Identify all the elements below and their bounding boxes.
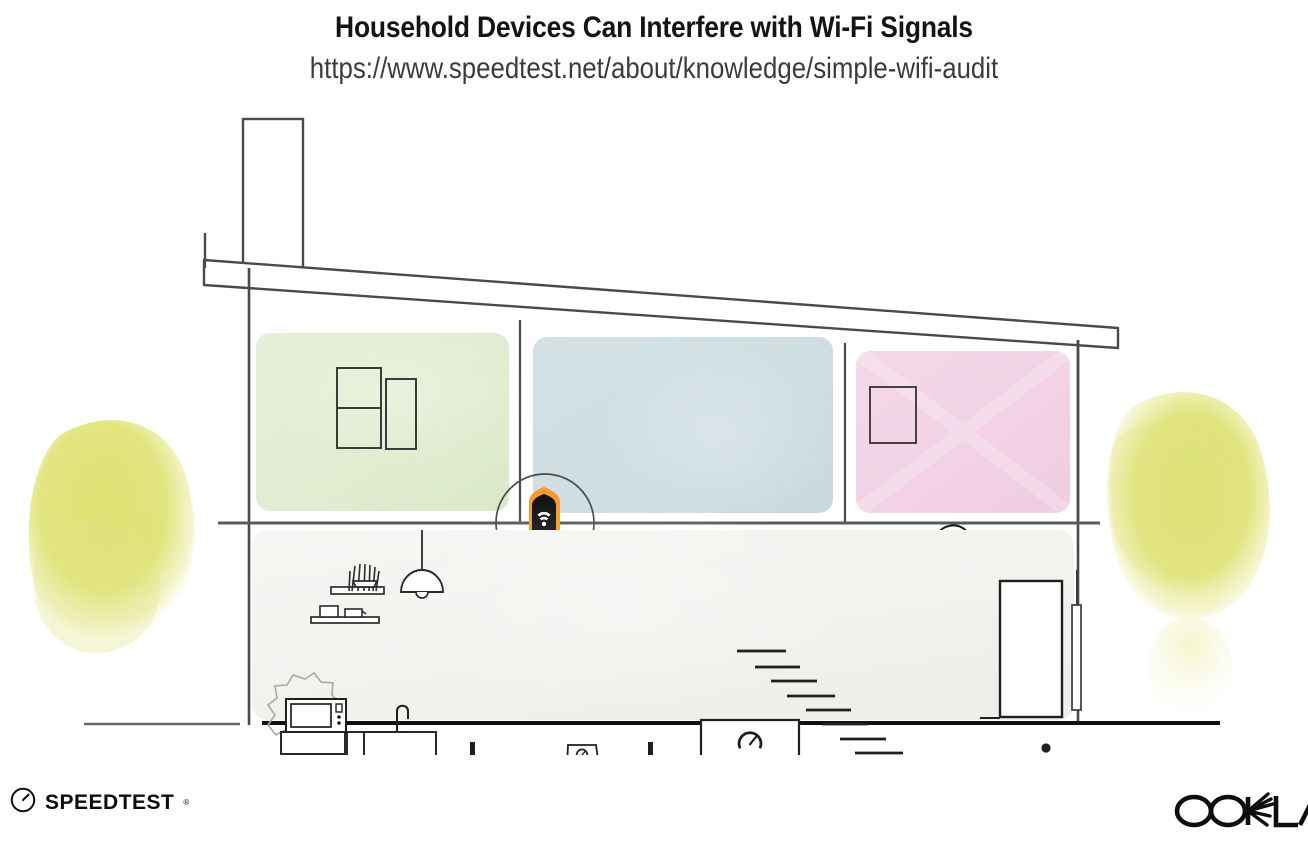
door-knob [1041,743,1050,752]
laptop-speedtest-dining: SPEEDTEST [559,745,607,755]
microwave [286,699,346,732]
dining-chair-left [470,742,500,755]
ookla-brand[interactable] [1172,787,1308,838]
page-title: Household Devices Can Interfere with Wi-… [78,8,1229,48]
television-speedtest: SPEEDTEST [701,720,799,755]
speedtest-gauge-icon [10,787,36,818]
source-url: https://www.speedtest.net/about/knowledg… [92,48,1217,90]
scene-illustration: SPEEDTEST [0,105,1308,755]
dining-chair-right [623,742,653,755]
ground-floor-living: SPEEDTEST [252,495,1081,755]
infographic-root: Household Devices Can Interfere with Wi-… [0,0,1308,861]
speedtest-wordmark: SPEEDTEST [45,791,174,815]
tree-right [1107,392,1270,713]
chimney [243,119,303,268]
tree-left [29,420,195,653]
kitchen-counter [281,732,436,755]
ookla-logo-icon [1172,787,1308,833]
header: Household Devices Can Interfere with Wi-… [0,0,1308,90]
speedtest-brand[interactable]: SPEEDTEST ® [10,787,189,818]
speedtest-trademark: ® [183,798,189,807]
footer: SPEEDTEST ® [0,765,1308,861]
